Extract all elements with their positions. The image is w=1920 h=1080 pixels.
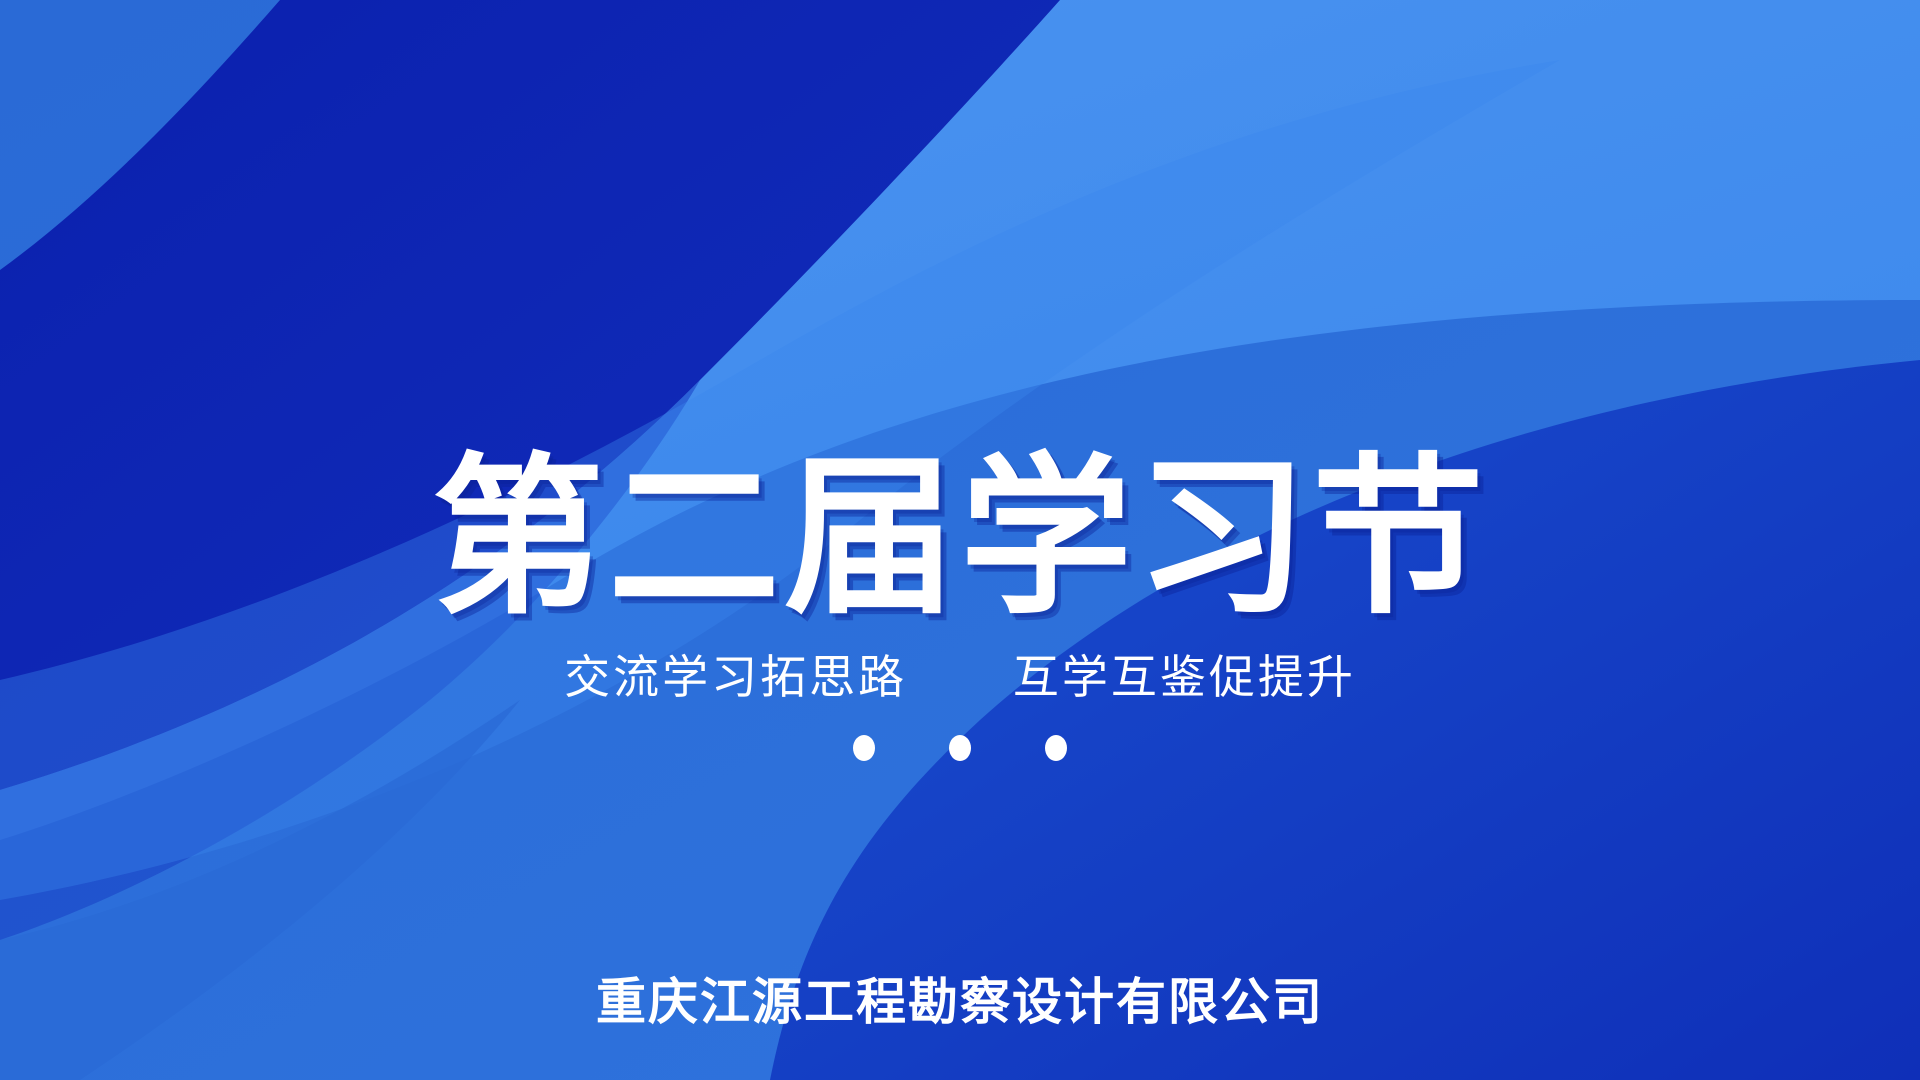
dot-icon [853, 735, 875, 761]
dot-icon [949, 735, 971, 761]
poster-content: 第二届学习节 交流学习拓思路 互学互鉴促提升 重庆江源工程勘察设计有限公司 [0, 0, 1920, 1080]
poster-canvas: 第二届学习节 交流学习拓思路 互学互鉴促提升 重庆江源工程勘察设计有限公司 [0, 0, 1920, 1080]
dot-icon [1045, 735, 1067, 761]
poster-subtitle: 交流学习拓思路 互学互鉴促提升 [564, 641, 1356, 707]
subtitle-block: 交流学习拓思路 互学互鉴促提升 [0, 595, 1920, 753]
footer-block: 重庆江源工程勘察设计有限公司 [0, 912, 1920, 1080]
decorative-dots-row [0, 735, 1920, 761]
company-name: 重庆江源工程勘察设计有限公司 [596, 962, 1324, 1034]
